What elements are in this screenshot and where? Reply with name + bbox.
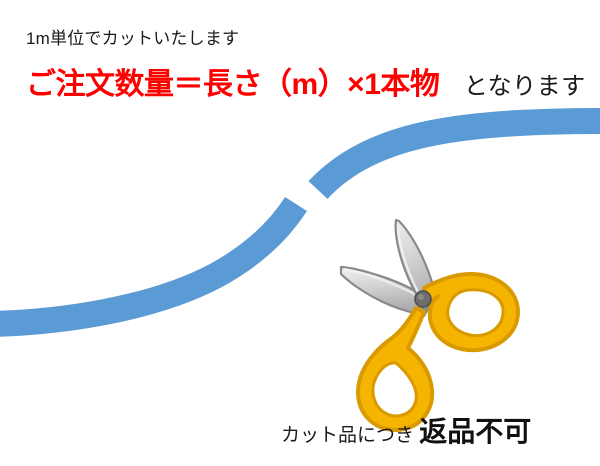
scissors-handle-left [358, 308, 432, 430]
headline-emphasis: ご注文数量＝長さ（m）×1本物 [26, 68, 439, 101]
scissors-handle-right [424, 274, 518, 350]
cable-left-segment [0, 204, 296, 324]
headline-line-2: ご注文数量＝長さ（m）×1本物 となります [26, 70, 586, 100]
footer-prefix: カット品につき [281, 425, 414, 446]
footer-note: カット品につき 返品不可 [281, 418, 531, 446]
headline-line-1: 1m単位でカットいたします [26, 30, 239, 47]
footer-strong: 返品不可 [419, 416, 531, 447]
slide-canvas: 1m単位でカットいたします ご注文数量＝長さ（m）×1本物 となります カット品… [0, 0, 600, 466]
headline-tail: となります [439, 73, 585, 100]
cable-right-segment [318, 121, 600, 190]
scissors [341, 220, 518, 430]
scissors-pivot-icon [415, 291, 431, 307]
